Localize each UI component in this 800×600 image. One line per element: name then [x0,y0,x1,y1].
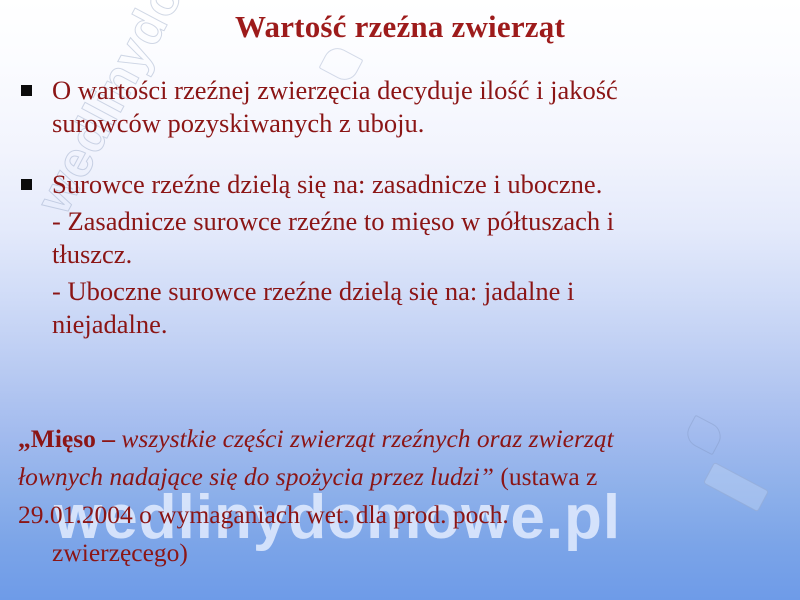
quote-line: zwierzęcego) [18,534,786,572]
list-item: O wartości rzeźnej zwierzęcia decyduje i… [0,74,800,140]
list-item: - Zasadnicze surowce rzeźne to mięso w p… [0,205,800,271]
bullet-line: Surowce rzeźne dzielą się na: zasadnicze… [52,168,782,201]
sub-item-line: tłuszcz. [52,238,782,271]
list-item: Surowce rzeźne dzielą się na: zasadnicze… [0,168,800,201]
quote-part: (ustawa z [494,462,597,491]
bullet-line: surowców pozyskiwanych z uboju. [52,107,782,140]
bullet-square-icon [21,179,32,190]
quote-part: wszystkie części zwierząt rzeźnych oraz … [115,424,614,453]
list-item: - Uboczne surowce rzeźne dzielą się na: … [0,275,800,341]
bullet-line: O wartości rzeźnej zwierzęcia decyduje i… [52,74,782,107]
quote-part: „Mięso – [18,424,115,453]
bullet-square-icon [21,85,32,96]
quote-line: łownych nadające się do spożycia przez l… [18,458,786,496]
page-title: Wartość rzeźna zwierząt [0,9,800,45]
quote-block: „Mięso – wszystkie części zwierząt rzeźn… [0,420,800,572]
quote-part: łownych nadające się do spożycia przez l… [18,462,494,491]
sub-item-line: - Zasadnicze surowce rzeźne to mięso w p… [52,205,782,238]
slide-canvas: wedlinydomowe.pl Wartość rzeźna zwierząt… [0,0,800,600]
quote-part: zwierzęcego) [52,538,188,567]
quote-line: „Mięso – wszystkie części zwierząt rzeźn… [18,420,786,458]
slide-body: O wartości rzeźnej zwierzęcia decyduje i… [0,74,800,341]
sub-item-line: - Uboczne surowce rzeźne dzielą się na: … [52,275,782,308]
quote-line: 29.01.2004 o wymaganiach wet. dla prod. … [18,496,786,534]
sub-item-line: niejadalne. [52,308,782,341]
spacer [0,140,800,168]
quote-part: 29.01.2004 o wymaganiach wet. dla prod. … [18,500,509,529]
